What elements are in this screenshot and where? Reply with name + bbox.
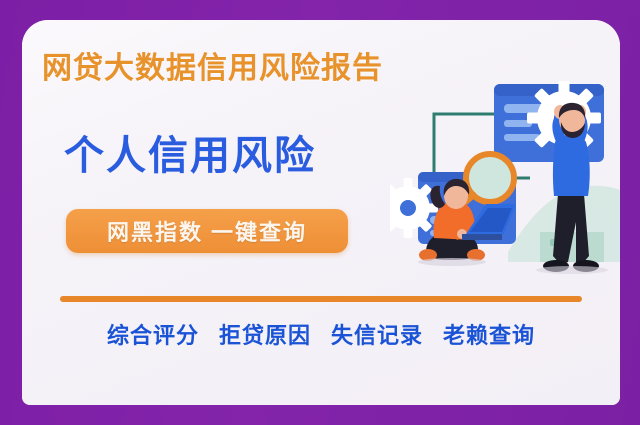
footer-item-score[interactable]: 综合评分 (107, 318, 199, 350)
subtitle: 个人信用风险 (64, 123, 316, 181)
orange-divider (60, 296, 582, 302)
inner-card: 网贷大数据信用风险报告 个人信用风险 网黑指数 一键查询 综合评分 拒贷原因 失… (22, 20, 620, 405)
promo-banner: 网贷大数据信用风险报告 个人信用风险 网黑指数 一键查询 综合评分 拒贷原因 失… (0, 0, 640, 425)
footer-item-dishonesty-record[interactable]: 失信记录 (331, 318, 423, 350)
footer-link-row: 综合评分 拒贷原因 失信记录 老赖查询 (60, 318, 582, 350)
query-cta-button[interactable]: 网黑指数 一键查询 (66, 209, 348, 253)
credit-risk-analysis-illustration (390, 56, 620, 288)
query-cta-label: 网黑指数 一键查询 (107, 215, 307, 247)
footer-item-rejection-reason[interactable]: 拒贷原因 (219, 318, 311, 350)
footer-item-defaulter-query[interactable]: 老赖查询 (443, 318, 535, 350)
page-title: 网贷大数据信用风险报告 (42, 43, 383, 87)
